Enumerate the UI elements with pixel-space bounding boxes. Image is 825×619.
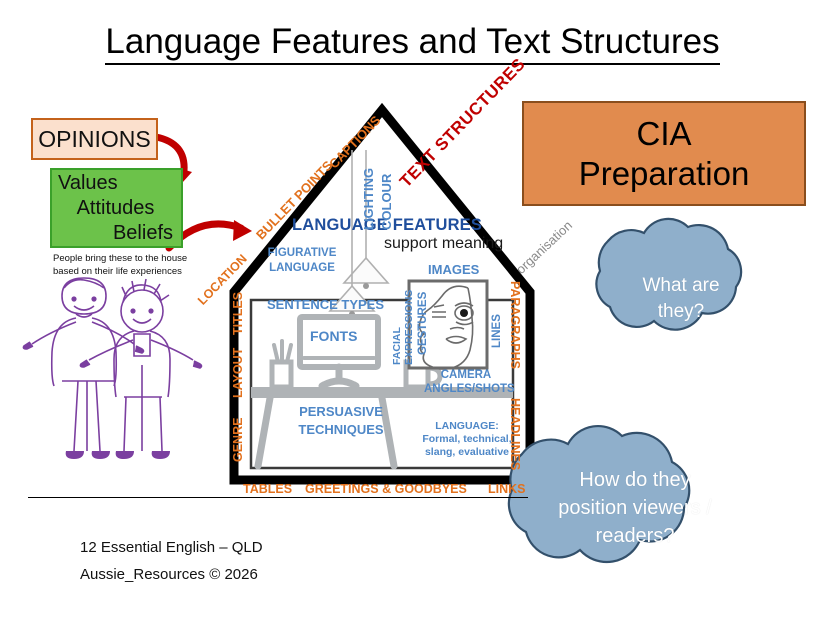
beliefs-line: Beliefs <box>58 221 173 246</box>
opinions-box: OPINIONS <box>31 118 158 160</box>
values-line: Values <box>58 171 173 196</box>
footer-copyright: Aussie_Resources © 2026 <box>80 566 258 583</box>
label-fonts: FONTS <box>310 328 357 344</box>
label-figurative-language: FIGURATIVE LANGUAGE <box>266 246 338 276</box>
cloud-2-line-2: position viewers / <box>505 494 765 522</box>
footer-divider <box>28 497 528 498</box>
house-caption-line-1: People bring these to the house <box>53 252 213 265</box>
label-language-kinds: LANGUAGE: Formal, technical, slang, eval… <box>422 420 512 459</box>
label-greetings-goodbyes: GREETINGS & GOODBYES <box>305 482 467 496</box>
label-paragraphs: PARAGRAPHS <box>508 281 522 369</box>
cloud-2-line-3: readers? <box>505 522 765 550</box>
house-caption-line-2: based on their life experiences <box>53 265 213 278</box>
label-headlines: HEADLINES <box>508 398 522 470</box>
cia-preparation-box: CIA Preparation <box>522 101 806 206</box>
label-facial-line-2: EXPRESSIONS <box>403 290 415 365</box>
label-layout: LAYOUT <box>231 348 245 398</box>
label-tables: TABLES <box>243 482 292 496</box>
footer-course: 12 Essential English – QLD <box>80 539 263 556</box>
label-genre: GENRE <box>231 418 245 462</box>
house-caption: People bring these to the house based on… <box>53 252 213 278</box>
cloud-1-line-2: they? <box>586 299 776 325</box>
label-camera-angles-shots: CAMERA ANGLES/SHOTS <box>424 368 508 396</box>
label-facial-expressions: FACIAL EXPRESSIONS <box>391 327 403 365</box>
cloud-2-text: How do they position viewers / readers? <box>505 466 765 550</box>
label-sentence-types: SENTENCE TYPES <box>267 297 384 312</box>
attitudes-line: Attitudes <box>58 196 173 221</box>
cloud-2-line-1: How do they <box>505 466 765 494</box>
cia-line-1: CIA <box>636 114 691 154</box>
label-language-kinds-3: slang, evaluative <box>422 446 512 459</box>
label-lighting: LIGHTING <box>361 168 376 230</box>
label-images: IMAGES <box>428 262 479 277</box>
label-facial-line-1: FACIAL <box>391 327 403 365</box>
cia-line-2: Preparation <box>579 154 750 194</box>
values-attitudes-beliefs-box: Values Attitudes Beliefs <box>50 168 183 248</box>
label-colour: COLOUR <box>379 174 394 230</box>
label-lines: LINES <box>491 314 503 348</box>
label-language-kinds-2: Formal, technical, <box>422 433 512 446</box>
cloud-1-text: What are they? <box>586 273 776 325</box>
opinions-label: OPINIONS <box>38 126 150 153</box>
label-gestures: GESTURES <box>417 292 429 355</box>
cloud-1-line-1: What are <box>586 273 776 299</box>
two-people-icon <box>23 278 201 459</box>
label-language-kinds-1: LANGUAGE: <box>422 420 512 433</box>
label-support-meaning: support meaning <box>384 235 503 253</box>
label-titles: TITLES <box>231 292 245 335</box>
label-persuasive-techniques: PERSUASIVE TECHNIQUES <box>295 403 387 439</box>
slide-canvas: Language Features and Text Structures <box>0 0 825 619</box>
